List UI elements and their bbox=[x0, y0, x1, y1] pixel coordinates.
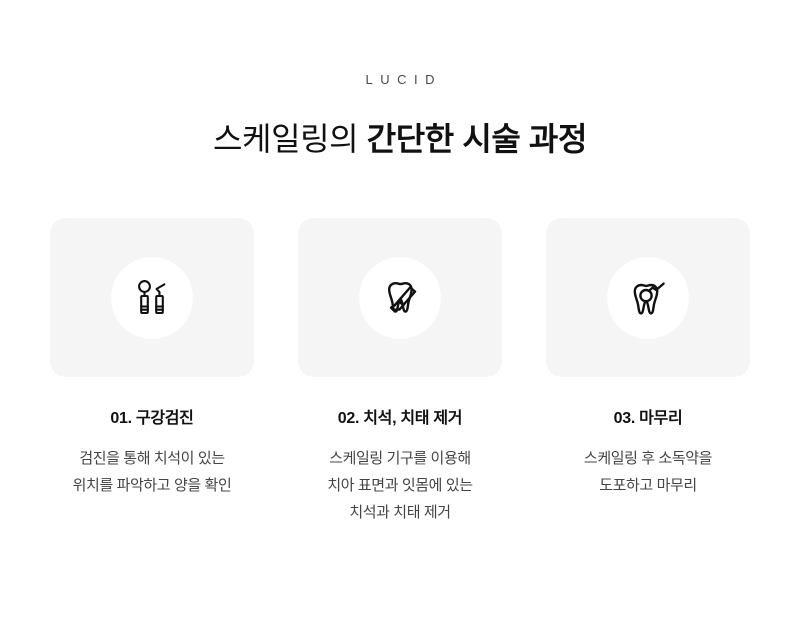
dental-mirror-and-scaler-icon bbox=[129, 275, 175, 321]
step-3-description-line-2: 도포하고 마무리 bbox=[584, 472, 712, 499]
step-card-2: 02. 치석, 치태 제거 스케일링 기구를 이용해 치아 표면과 잇몸에 있는… bbox=[298, 218, 502, 526]
step-2-description-line-3: 치석과 치태 제거 bbox=[327, 499, 472, 526]
step-1-title: 01. 구강검진 bbox=[110, 408, 193, 430]
step-1-icon-tile bbox=[50, 218, 254, 377]
step-2-description: 스케일링 기구를 이용해 치아 표면과 잇몸에 있는 치석과 치태 제거 bbox=[327, 445, 472, 526]
step-2-description-line-1: 스케일링 기구를 이용해 bbox=[327, 445, 472, 472]
brand-name: LUCID bbox=[0, 71, 800, 89]
page-title: 스케일링의 간단한 시술 과정 bbox=[0, 118, 800, 160]
step-1-icon-disc bbox=[111, 257, 193, 339]
step-1-description: 검진을 통해 치석이 있는 위치를 파악하고 양을 확인 bbox=[73, 445, 232, 499]
step-1-description-line-2: 위치를 파악하고 양을 확인 bbox=[73, 472, 232, 499]
step-1-description-line-1: 검진을 통해 치석이 있는 bbox=[73, 445, 232, 472]
step-2-icon-disc bbox=[359, 257, 441, 339]
steps-grid: 01. 구강검진 검진을 통해 치석이 있는 위치를 파악하고 양을 확인 bbox=[50, 218, 750, 526]
step-3-icon-tile bbox=[546, 218, 750, 377]
step-card-1: 01. 구강검진 검진을 통해 치석이 있는 위치를 파악하고 양을 확인 bbox=[50, 218, 254, 499]
step-2-title: 02. 치석, 치태 제거 bbox=[338, 408, 462, 430]
step-2-description-line-2: 치아 표면과 잇몸에 있는 bbox=[327, 472, 472, 499]
promo-page: LUCID 스케일링의 간단한 시술 과정 bbox=[0, 0, 800, 618]
step-2-icon-tile bbox=[298, 218, 502, 377]
page-title-light: 스케일링의 bbox=[213, 121, 367, 157]
tooth-with-applicator-icon bbox=[625, 275, 671, 321]
tooth-with-scaler-icon bbox=[377, 275, 423, 321]
step-3-icon-disc bbox=[607, 257, 689, 339]
step-3-description: 스케일링 후 소독약을 도포하고 마무리 bbox=[584, 445, 712, 499]
step-card-3: 03. 마무리 스케일링 후 소독약을 도포하고 마무리 bbox=[546, 218, 750, 499]
page-title-bold: 간단한 시술 과정 bbox=[367, 121, 587, 157]
step-3-description-line-1: 스케일링 후 소독약을 bbox=[584, 445, 712, 472]
step-3-title: 03. 마무리 bbox=[614, 408, 683, 430]
